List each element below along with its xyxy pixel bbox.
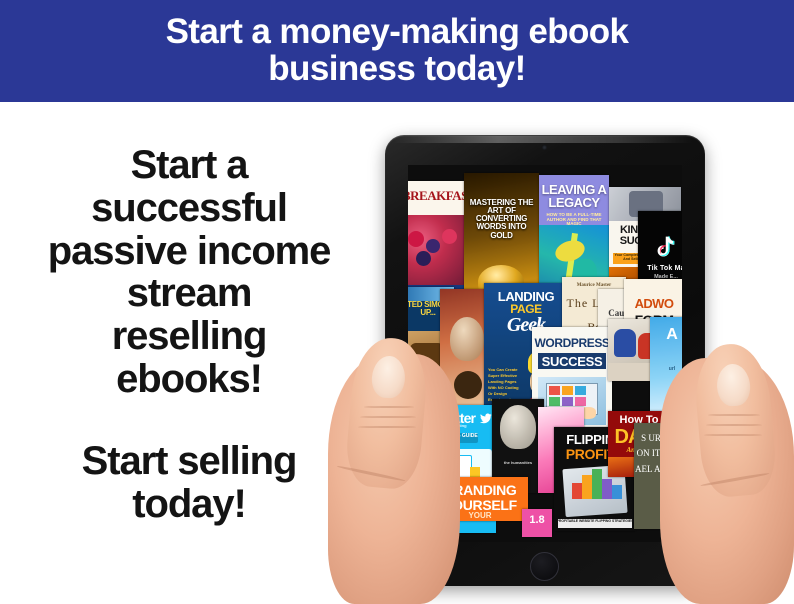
cta-headline: Start selling today! <box>0 440 378 526</box>
twitter-bird-icon <box>480 411 492 422</box>
cover-title-line1: WORDPRESS <box>532 337 612 349</box>
frame-highlight <box>393 136 693 143</box>
cover-title: BREAKFAST <box>408 189 464 202</box>
main-headline: Start a successful passive income stream… <box>0 144 378 401</box>
cover-subtitle: You Can Create Super Effective Landing P… <box>488 367 524 403</box>
cover-title: Tik Tok Ma <box>638 265 682 272</box>
knuckle-crease <box>364 406 414 408</box>
cover-title: LEAVING A LEGACY <box>539 183 609 210</box>
cover-title: 1.8 <box>522 515 552 526</box>
right-hand <box>660 358 794 604</box>
cover-caption: the humanities <box>492 461 544 465</box>
home-button[interactable] <box>530 552 559 581</box>
left-copy-block: Start a successful passive income stream… <box>0 108 378 596</box>
tiktok-logo-icon <box>657 233 677 261</box>
knuckle-crease <box>706 424 762 426</box>
cover-subtitle: PROFITABLE WEBSITE FLIPPING STRATEGIES <box>554 520 636 523</box>
cover-title: MASTERING THE ART OF CONVERTING WORDS IN… <box>464 199 539 240</box>
left-hand <box>328 354 460 604</box>
knuckle-crease <box>360 416 416 418</box>
knuckle-crease <box>358 426 416 428</box>
cover-title-line2: SUCCESS <box>532 355 612 368</box>
cover-title: A <box>650 327 682 343</box>
cover-title-line1: ADWO <box>624 297 682 310</box>
knuckle-crease <box>708 414 760 416</box>
camera-lens-icon <box>542 145 547 150</box>
knuckle-crease <box>704 434 762 436</box>
cover-pink-1-8[interactable]: 1.8 <box>522 509 552 537</box>
cover-subtitle: Maurice Master <box>562 283 626 288</box>
tablet-with-hands: BREAKFAST MASTERING THE ART OF CONVERTIN… <box>330 108 794 596</box>
banner-headline: Start a money-making ebook business toda… <box>166 13 629 90</box>
top-promo-banner: Start a money-making ebook business toda… <box>0 0 794 102</box>
